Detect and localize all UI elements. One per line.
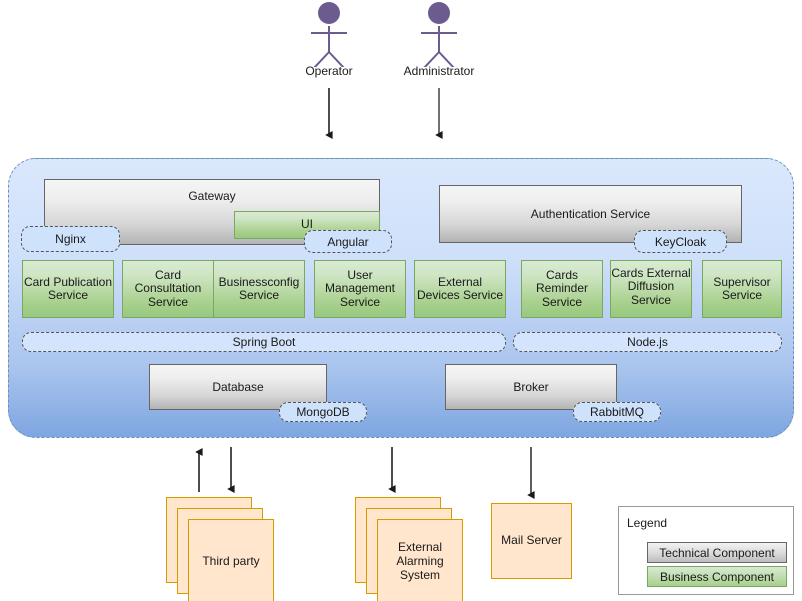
legend-technical-label: Technical Component: [659, 546, 774, 560]
rabbitmq-label: RabbitMQ: [590, 405, 644, 419]
architecture-diagram: Operator Administrator Gateway UI Nginx …: [0, 0, 802, 601]
service-card-publication: Card Publication Service: [22, 260, 114, 318]
legend-business-label: Business Component: [660, 570, 774, 584]
broker-label: Broker: [513, 380, 548, 394]
external-system-label: External Alarming System: [377, 519, 463, 601]
gateway-label: Gateway: [188, 189, 235, 203]
authentication-service-label: Authentication Service: [531, 207, 650, 221]
legend: Legend Technical Component Business Comp…: [618, 506, 794, 595]
actor-head-icon: [318, 2, 340, 24]
service-label: User Management Service: [315, 269, 405, 309]
actor-body-icon: [305, 22, 353, 67]
legend-technical-component: Technical Component: [647, 542, 787, 563]
external-system-third-party: Third party: [166, 497, 286, 601]
service-label: External Devices Service: [415, 276, 505, 303]
external-system-label: Mail Server: [491, 503, 572, 579]
external-system-label: Third party: [188, 519, 274, 601]
angular-badge: Angular: [304, 230, 392, 253]
nginx-badge: Nginx: [21, 226, 120, 252]
service-businessconfig: Businessconfig Service: [213, 260, 305, 318]
actor-administrator: Administrator: [415, 2, 463, 82]
actor-head-icon: [428, 2, 450, 24]
service-label: Card Publication Service: [23, 276, 113, 303]
actor-label-operator: Operator: [305, 64, 352, 78]
runtime-label: Node.js: [627, 335, 668, 349]
nginx-label: Nginx: [55, 232, 86, 246]
service-label: Cards Reminder Service: [522, 269, 602, 309]
actor-body-icon: [415, 22, 463, 67]
database-label: Database: [212, 380, 263, 394]
service-label: Supervisor Service: [703, 276, 781, 303]
keycloak-label: KeyCloak: [655, 235, 706, 249]
external-system-mail-server: Mail Server: [491, 503, 577, 581]
mongodb-label: MongoDB: [296, 405, 349, 419]
runtime-bar-spring-boot: Spring Boot: [22, 332, 506, 352]
actor-operator: Operator: [305, 2, 353, 82]
rabbitmq-badge: RabbitMQ: [573, 402, 661, 422]
runtime-bar-nodejs: Node.js: [513, 332, 782, 352]
service-external-devices: External Devices Service: [414, 260, 506, 318]
legend-business-component: Business Component: [647, 566, 787, 587]
service-cards-external-diffusion: Cards External Diffusion Service: [610, 260, 692, 318]
runtime-label: Spring Boot: [233, 335, 296, 349]
mongodb-badge: MongoDB: [279, 402, 367, 422]
service-label: Card Consultation Service: [123, 269, 213, 309]
angular-label: Angular: [327, 235, 368, 249]
platform-container: Gateway UI Nginx Angular Authentication …: [8, 158, 794, 438]
actor-label-administrator: Administrator: [404, 64, 475, 78]
service-label: Cards External Diffusion Service: [611, 267, 691, 307]
service-user-management: User Management Service: [314, 260, 406, 318]
keycloak-badge: KeyCloak: [634, 230, 727, 253]
service-supervisor: Supervisor Service: [702, 260, 782, 318]
service-cards-reminder: Cards Reminder Service: [521, 260, 603, 318]
service-label: Businessconfig Service: [214, 276, 304, 303]
external-system-alarming: External Alarming System: [355, 497, 475, 601]
legend-title: Legend: [627, 516, 667, 530]
service-card-consultation: Card Consultation Service: [122, 260, 214, 318]
